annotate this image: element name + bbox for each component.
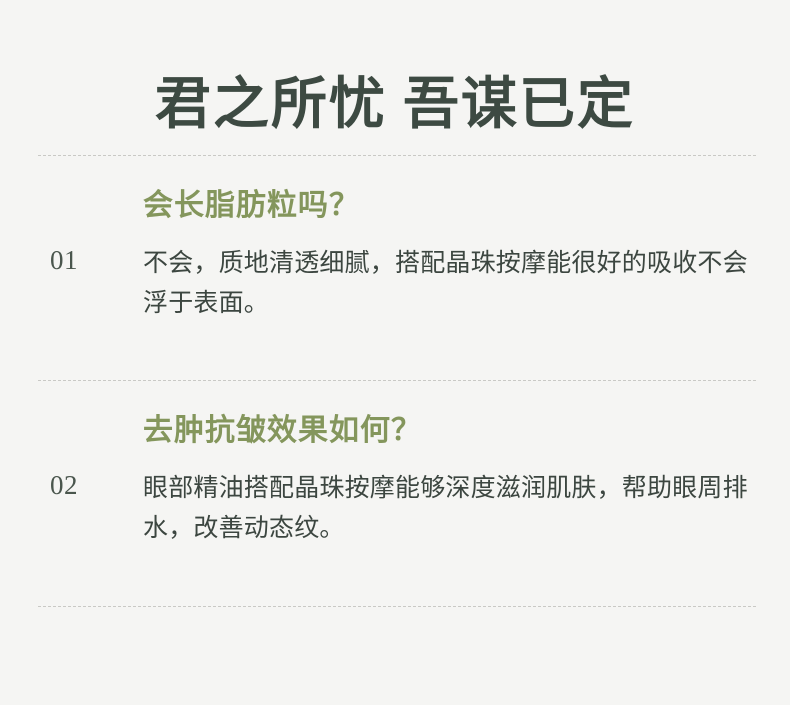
faq-item-01: 01 会长脂肪粒吗？ 不会，质地清透细腻，搭配晶珠按摩能很好的吸收不会浮于表面。: [0, 155, 790, 380]
faq-content: 去肿抗皱效果如何？ 眼部精油搭配晶珠按摩能够深度滋润肌肤，帮助眼周排水，改善动态…: [143, 412, 763, 549]
faq-question: 会长脂肪粒吗？: [143, 187, 763, 225]
faq-answer: 不会，质地清透细腻，搭配晶珠按摩能很好的吸收不会浮于表面。: [143, 243, 758, 324]
faq-content: 会长脂肪粒吗？ 不会，质地清透细腻，搭配晶珠按摩能很好的吸收不会浮于表面。: [143, 187, 763, 324]
faq-answer: 眼部精油搭配晶珠按摩能够深度滋润肌肤，帮助眼周排水，改善动态纹。: [143, 468, 758, 549]
divider-bottom: [38, 606, 756, 607]
faq-item-02: 02 去肿抗皱效果如何？ 眼部精油搭配晶珠按摩能够深度滋润肌肤，帮助眼周排水，改…: [0, 380, 790, 605]
page-title: 君之所忧 吾谋已定: [155, 72, 635, 138]
faq-index-label: 01: [50, 247, 78, 274]
faq-question: 去肿抗皱效果如何？: [143, 412, 763, 450]
faq-index-label: 02: [50, 472, 78, 499]
faq-page: 君之所忧 吾谋已定 01 会长脂肪粒吗？ 不会，质地清透细腻，搭配晶珠按摩能很好…: [0, 0, 790, 705]
page-title-container: 君之所忧 吾谋已定: [0, 34, 790, 175]
